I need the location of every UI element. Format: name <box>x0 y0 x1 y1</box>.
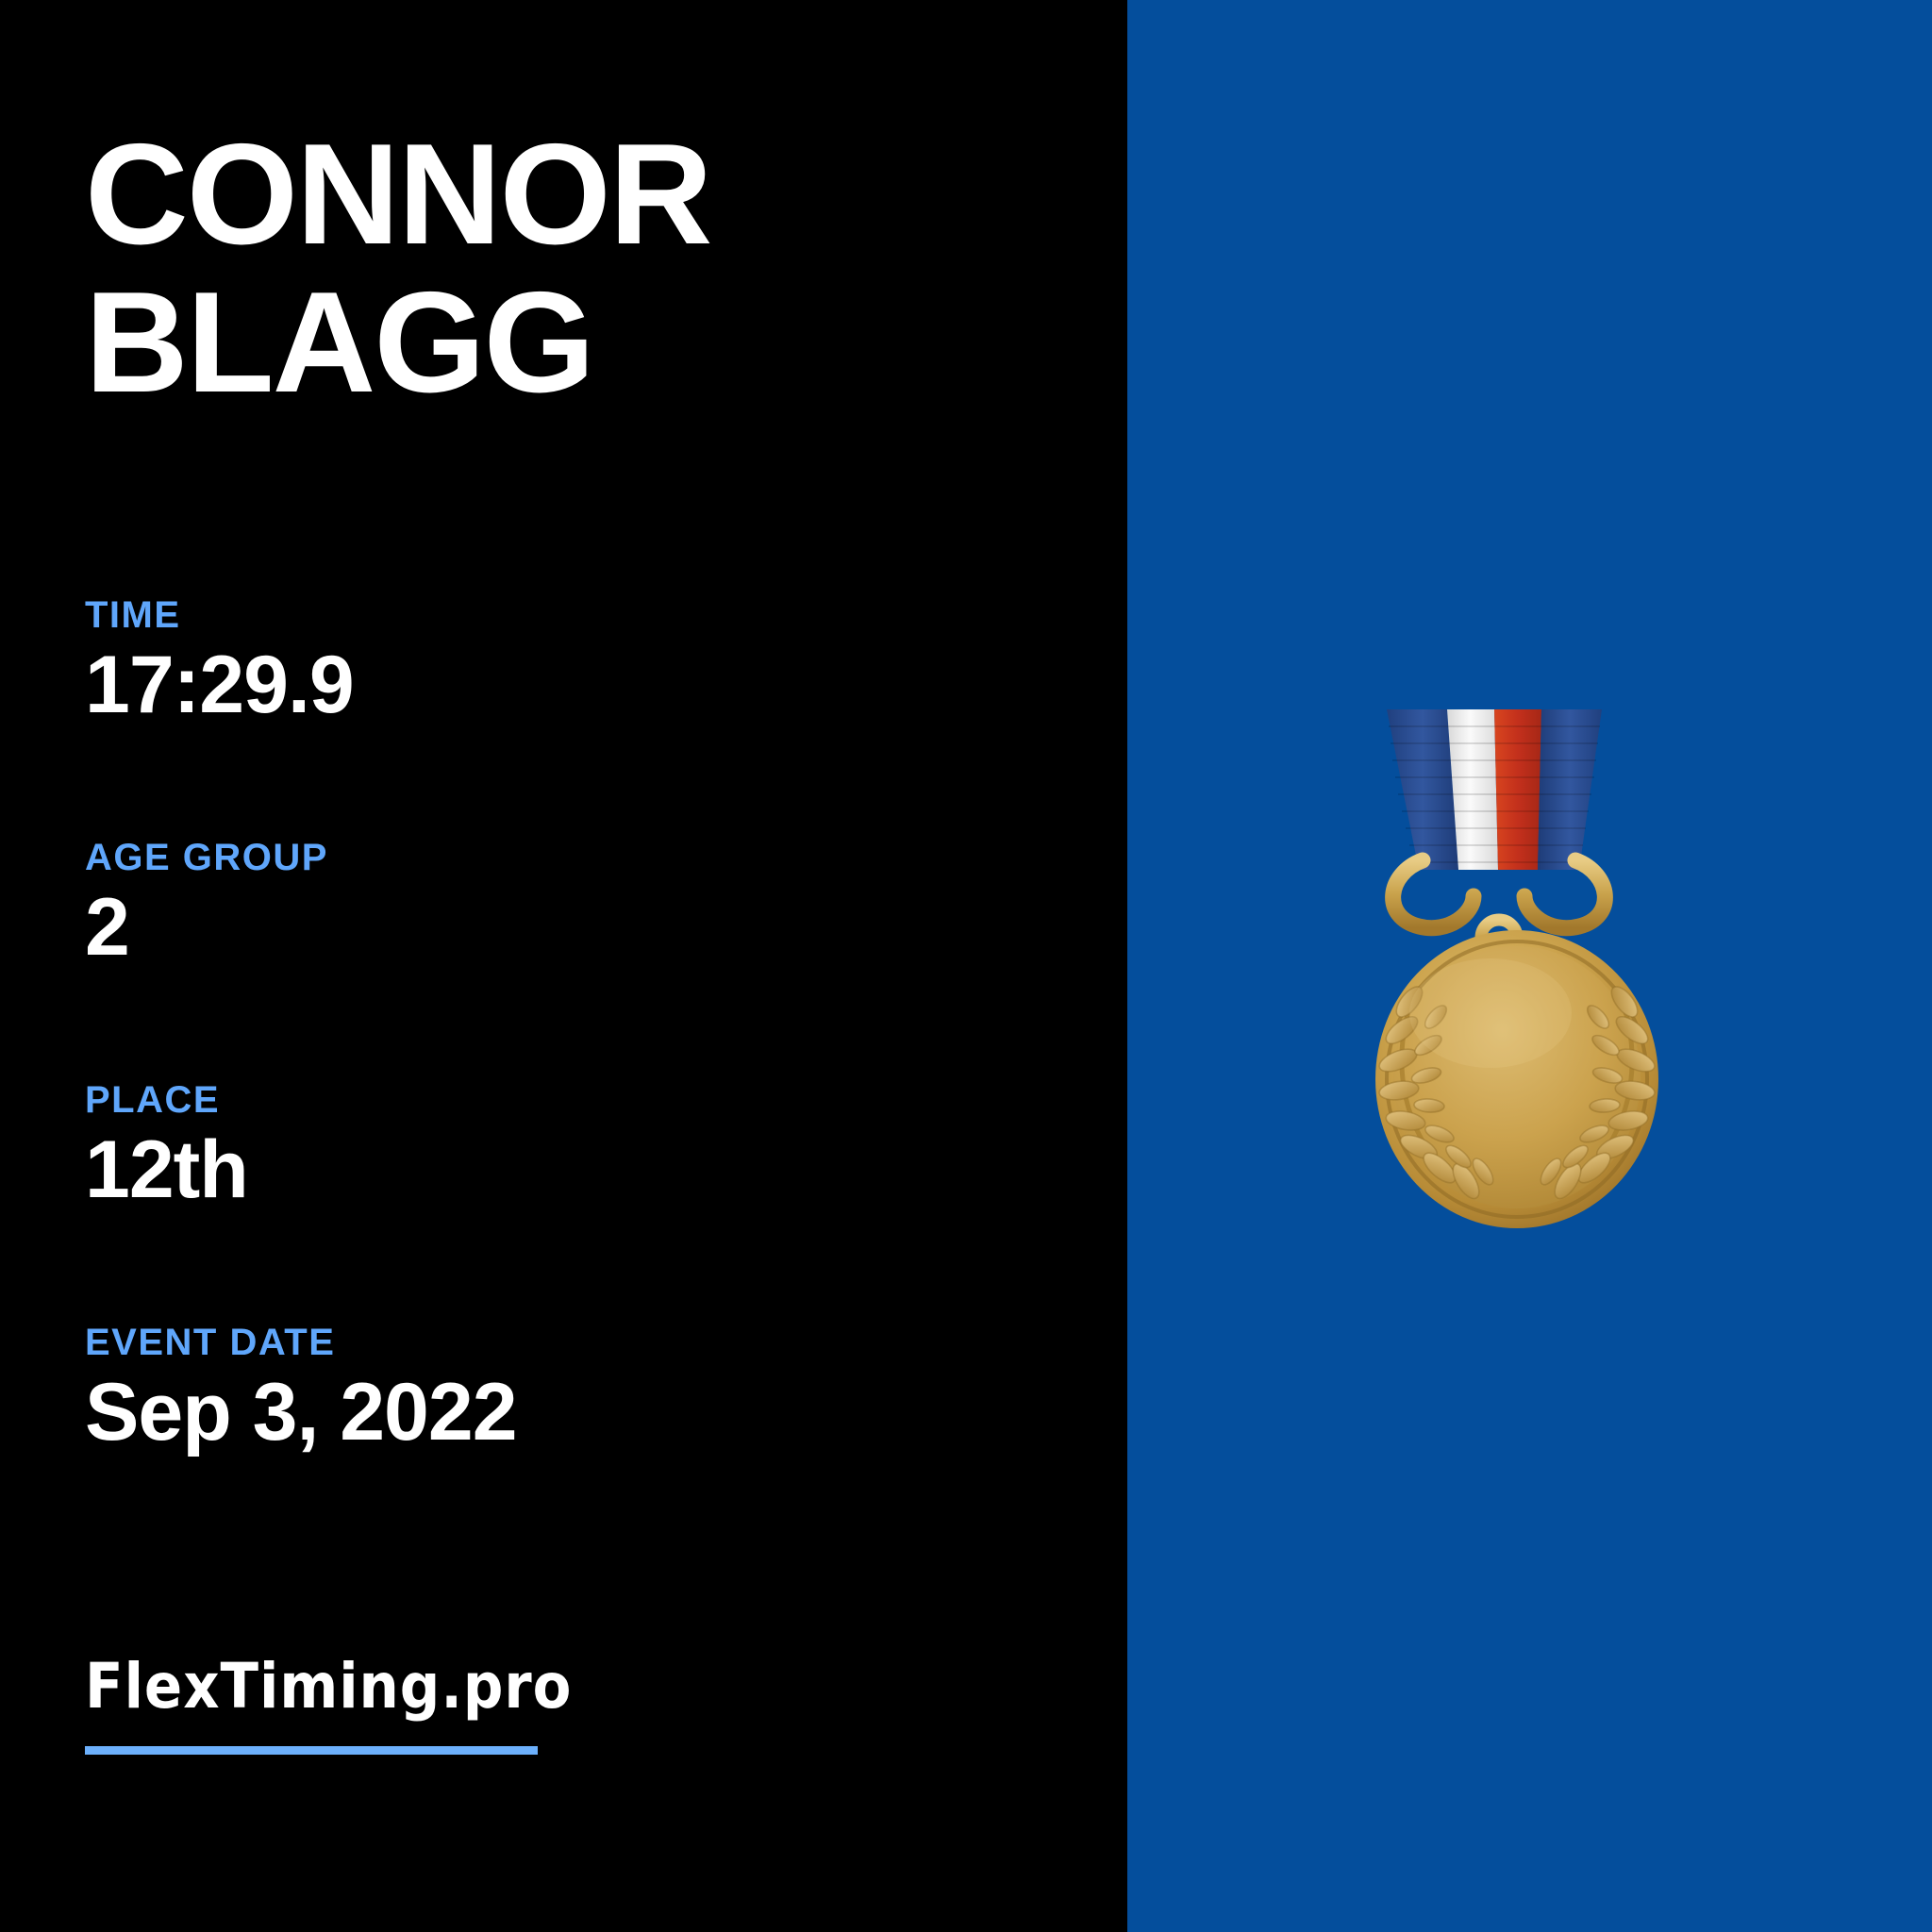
gold-medal-icon <box>1332 702 1728 1230</box>
stat-block-time: TIME 17:29.9 <box>85 594 1028 729</box>
stat-label-event-date: EVENT DATE <box>85 1322 1028 1363</box>
brand-underline-bar <box>85 1746 538 1755</box>
athlete-name-line-2: BLAGG <box>85 262 593 423</box>
brand-wordmark: FlexTiming.pro <box>85 1653 670 1722</box>
results-panel: CONNOR BLAGG TIME 17:29.9 AGE GROUP 2 PL… <box>0 0 1127 1932</box>
athlete-name-line-1: CONNOR <box>85 114 711 275</box>
medal-ribbon-icon <box>1387 709 1602 870</box>
athlete-name: CONNOR BLAGG <box>85 121 1028 416</box>
stat-value-place: 12th <box>85 1126 1028 1214</box>
stat-value-event-date: Sep 3, 2022 <box>85 1369 1028 1457</box>
medal-panel <box>1127 0 1932 1932</box>
result-card: CONNOR BLAGG TIME 17:29.9 AGE GROUP 2 PL… <box>0 0 1932 1932</box>
stat-block-age-group: AGE GROUP 2 <box>85 837 1028 972</box>
stat-value-age-group: 2 <box>85 884 1028 972</box>
medal-disc-icon <box>1375 930 1658 1228</box>
brand-logo[interactable]: FlexTiming.pro <box>85 1653 670 1755</box>
stat-block-event-date: EVENT DATE Sep 3, 2022 <box>85 1322 1028 1457</box>
stat-label-age-group: AGE GROUP <box>85 837 1028 878</box>
stat-block-place: PLACE 12th <box>85 1079 1028 1214</box>
stat-label-place: PLACE <box>85 1079 1028 1121</box>
stat-label-time: TIME <box>85 594 1028 636</box>
stats-list: TIME 17:29.9 AGE GROUP 2 PLACE 12th EVEN… <box>85 594 1028 1457</box>
stat-value-time: 17:29.9 <box>85 641 1028 729</box>
